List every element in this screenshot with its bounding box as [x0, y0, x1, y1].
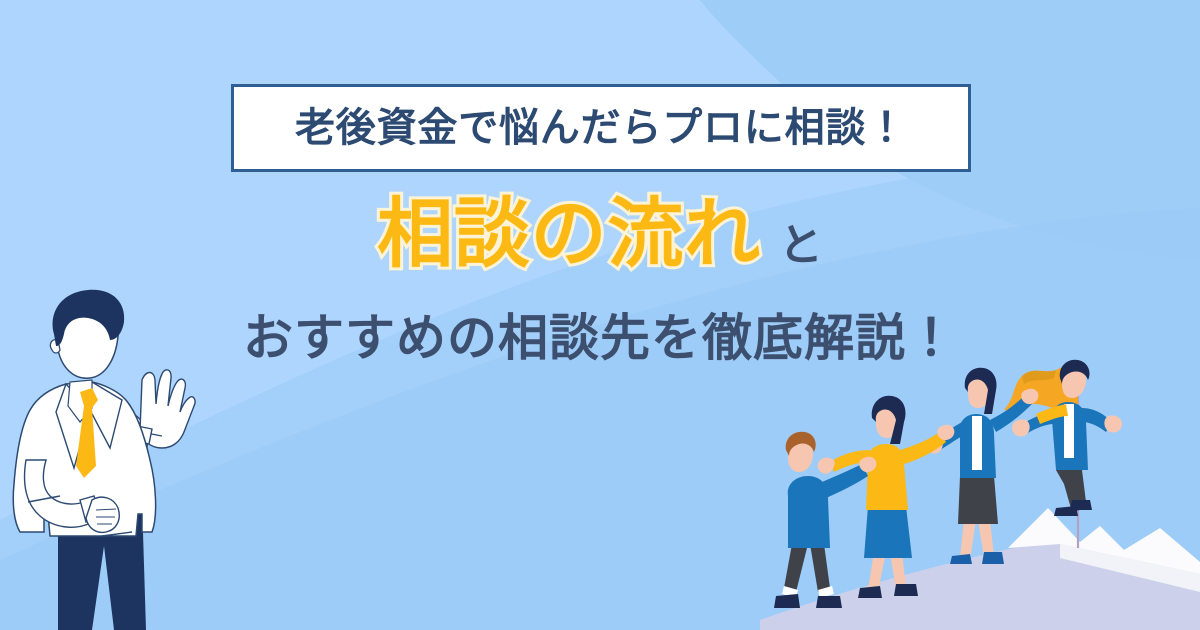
blazer-shirt	[972, 416, 982, 470]
banner-root: 老後資金で悩んだらプロに相談！ 相談の流れ と おすすめの相談先を徹底解説！	[0, 0, 1200, 630]
leader-hand-right	[1104, 415, 1122, 432]
rear-shoe-back	[774, 594, 800, 608]
blazer-shoe-front	[982, 552, 1004, 564]
rear-shoe-front	[816, 596, 842, 608]
rear-leg-front	[810, 544, 830, 592]
headline-box: 老後資金で悩んだらプロに相談！	[231, 84, 971, 172]
yellow-hand-left	[818, 458, 835, 474]
headline-text: 老後資金で悩んだらプロに相談！	[295, 108, 907, 148]
rear-leg-back	[784, 544, 808, 592]
businessman-hand-lower	[86, 497, 119, 532]
main-title-conjunction: と	[779, 224, 823, 268]
leader-hand-left	[1012, 419, 1030, 436]
blazer-shoe-back	[950, 554, 972, 564]
main-title-accent: 相談の流れ	[377, 196, 761, 272]
yellow-shoe-front	[894, 584, 918, 596]
leader-shoe-front	[1070, 500, 1092, 510]
team-climbing-illustration	[760, 352, 1200, 630]
yellow-skirt	[864, 506, 912, 558]
businessman-waving-illustration	[0, 288, 206, 630]
blazer-skirt	[958, 476, 998, 524]
blazer-leg-back	[960, 520, 976, 560]
main-title: 相談の流れ と	[0, 196, 1200, 296]
